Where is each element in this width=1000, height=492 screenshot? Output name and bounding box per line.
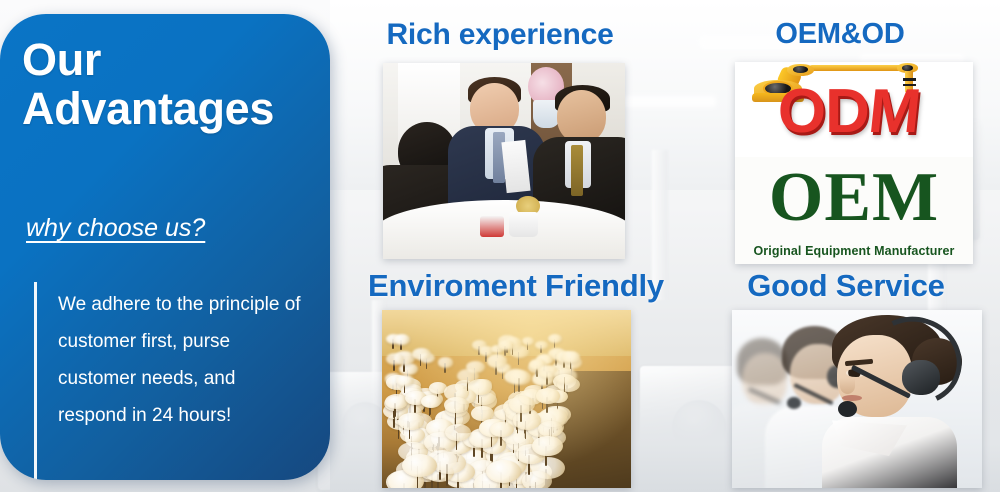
advantages-panel-inner: Our Advantages why choose us? We adhere … xyxy=(0,14,330,480)
agent-front-mic xyxy=(838,401,857,417)
business-meeting-photo-inner xyxy=(383,63,625,259)
agent-middle-mic xyxy=(787,397,801,409)
robot-arm-wrist-joint xyxy=(902,65,914,71)
cotton-field-inner xyxy=(382,310,631,488)
our-advantages-banner: Our Advantages why choose us? We adhere … xyxy=(0,0,1000,492)
oem-odm-logo-photo: ODM OEM Original Equipment Manufacturer xyxy=(735,62,973,264)
feature-cell-rich-experience: Rich experience xyxy=(340,18,660,268)
oem-subtitle: Original Equipment Manufacturer xyxy=(735,244,973,258)
meeting-drink-cup xyxy=(480,216,504,238)
agent-front-earcup xyxy=(902,360,940,396)
cotton-field-photo xyxy=(382,310,631,488)
panel-subtitle: why choose us? xyxy=(26,214,205,243)
feature-title-oem-odm: OEM&OD xyxy=(680,18,1000,51)
robot-arm-elbow-joint xyxy=(793,66,807,73)
odm-wordmark: ODM xyxy=(778,81,968,143)
page-title-line2: Advantages xyxy=(22,85,318,134)
advantages-panel: Our Advantages why choose us? We adhere … xyxy=(0,14,330,480)
page-title-line1: Our xyxy=(22,34,101,85)
call-center-photo xyxy=(732,310,982,488)
robot-arm-forearm xyxy=(809,65,904,70)
page-title: Our Advantages xyxy=(22,36,318,133)
panel-body-text: We adhere to the principle of customer f… xyxy=(58,286,306,434)
person-right-tie xyxy=(571,145,583,196)
meeting-cup xyxy=(509,212,538,237)
oem-wordmark: OEM xyxy=(735,163,973,233)
feature-title-rich-experience: Rich experience xyxy=(340,18,660,52)
oem-logo-area: OEM Original Equipment Manufacturer xyxy=(735,157,973,264)
agent-front-nose xyxy=(840,378,855,394)
cotton-field-sunglow xyxy=(382,310,631,488)
meeting-menu-card xyxy=(501,140,530,193)
oem-odm-logo-inner: ODM OEM Original Equipment Manufacturer xyxy=(735,62,973,264)
odm-logo-area: ODM xyxy=(735,62,973,157)
business-meeting-photo xyxy=(383,63,625,259)
feature-cell-oem-odm: OEM&OD ODM xyxy=(680,18,1000,268)
feature-cell-good-service: Good Service xyxy=(692,268,1000,492)
feature-cell-enviroment-friendly: Enviroment Friendly xyxy=(340,268,692,492)
feature-title-enviroment-friendly: Enviroment Friendly xyxy=(340,268,692,304)
call-center-inner xyxy=(732,310,982,488)
person-right-head xyxy=(557,90,605,143)
meeting-table xyxy=(383,200,625,259)
vertical-divider xyxy=(34,282,37,480)
feature-title-good-service: Good Service xyxy=(692,268,1000,304)
